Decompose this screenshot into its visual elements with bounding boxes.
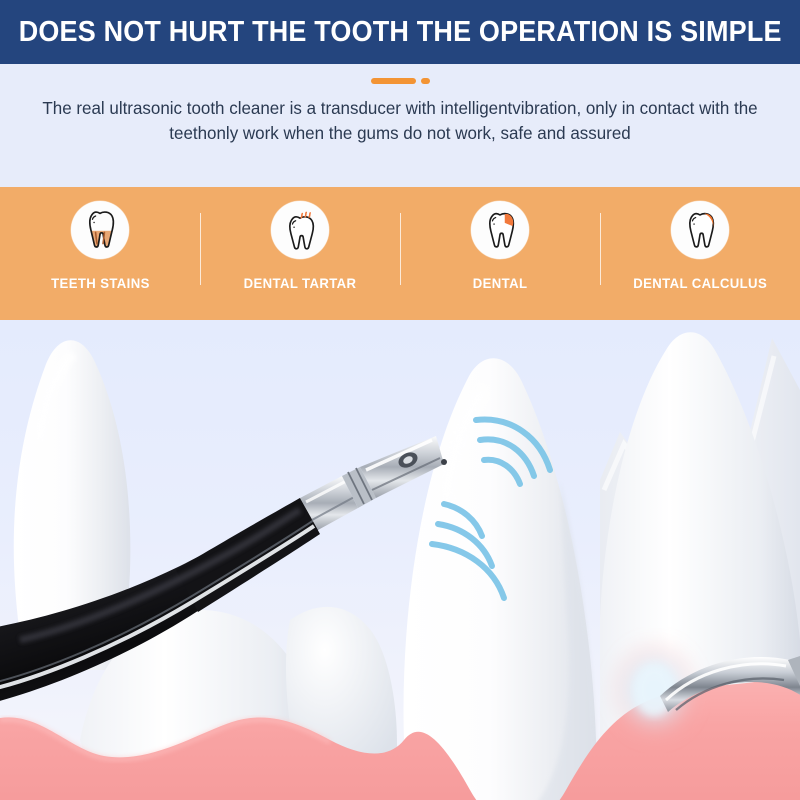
page-title: DOES NOT HURT THE TOOTH THE OPERATION IS… <box>19 16 782 49</box>
header-banner: DOES NOT HURT THE TOOTH THE OPERATION IS… <box>0 0 800 64</box>
feature-separator <box>200 213 201 285</box>
subtitle-section: The real ultrasonic tooth cleaner is a t… <box>0 64 800 187</box>
feature-label: DENTAL CALCULUS <box>633 275 767 291</box>
tooth-with-calculus-patch-icon <box>671 201 729 259</box>
product-photo <box>0 320 800 800</box>
tooth-with-odor-waves-icon <box>271 201 329 259</box>
feature-item-dental[interactable]: DENTAL <box>400 187 600 320</box>
tooth-with-small-plaque-icon <box>471 201 529 259</box>
feature-label: DENTAL TARTAR <box>244 275 357 291</box>
orange-dash-dot-divider-icon <box>371 77 430 84</box>
divider-bar <box>371 78 416 84</box>
product-feature-page: DOES NOT HURT THE TOOTH THE OPERATION IS… <box>0 0 800 800</box>
feature-separator <box>400 213 401 285</box>
feature-item-teeth-stains[interactable]: TEETH STAINS <box>0 187 200 320</box>
feature-strip: TEETH STAINS DENTAL TARTAR <box>0 187 800 320</box>
feature-label: DENTAL <box>473 275 528 291</box>
product-photo-illustration <box>0 320 800 800</box>
tooth-with-stained-roots-icon <box>71 201 129 259</box>
feature-item-dental-tartar[interactable]: DENTAL TARTAR <box>200 187 400 320</box>
feature-label: TEETH STAINS <box>51 275 150 291</box>
divider-dot <box>421 78 430 84</box>
feature-separator <box>600 213 601 285</box>
subtitle-text: The real ultrasonic tooth cleaner is a t… <box>41 96 759 146</box>
feature-item-dental-calculus[interactable]: DENTAL CALCULUS <box>600 187 800 320</box>
